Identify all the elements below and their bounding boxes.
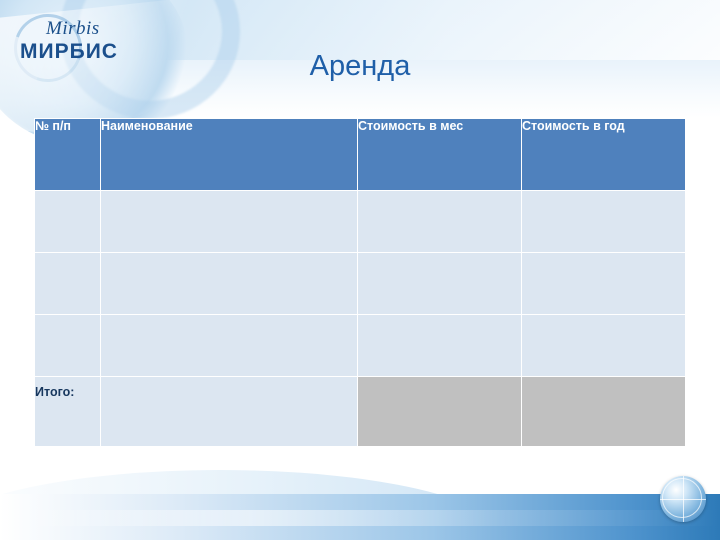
cell-total-price-month [358, 377, 522, 447]
table-header-row: № п/п Наименование Стоимость в мес Стоим… [35, 119, 686, 191]
logo-main-text: МИРБИС [20, 40, 118, 64]
cell-name[interactable] [101, 191, 358, 253]
cell-number[interactable] [35, 315, 101, 377]
column-header-name: Наименование [101, 119, 358, 191]
globe-icon [660, 476, 706, 522]
cell-price-year[interactable] [522, 253, 686, 315]
slide: Mirbis МИРБИС Аренда № п/п Наименование … [0, 0, 720, 540]
table-row [35, 315, 686, 377]
table-header: № п/п Наименование Стоимость в мес Стоим… [35, 119, 686, 191]
table-total-row: Итого: [35, 377, 686, 447]
column-header-price-month: Стоимость в мес [358, 119, 522, 191]
cell-price-year[interactable] [522, 191, 686, 253]
table-row [35, 253, 686, 315]
cell-number[interactable] [35, 253, 101, 315]
column-header-price-year: Стоимость в год [522, 119, 686, 191]
cell-number[interactable] [35, 191, 101, 253]
cell-price-month[interactable] [358, 253, 522, 315]
cell-name[interactable] [101, 253, 358, 315]
table-row [35, 191, 686, 253]
mirbis-logo: Mirbis МИРБИС [12, 12, 132, 76]
cell-price-month[interactable] [358, 315, 522, 377]
table-body: Итого: [35, 191, 686, 447]
cell-price-year[interactable] [522, 315, 686, 377]
cell-total-label: Итого: [35, 377, 101, 447]
cell-price-month[interactable] [358, 191, 522, 253]
column-header-number: № п/п [35, 119, 101, 191]
rent-table-container: № п/п Наименование Стоимость в мес Стоим… [34, 118, 685, 447]
rent-table: № п/п Наименование Стоимость в мес Стоим… [34, 118, 686, 447]
cell-total-name[interactable] [101, 377, 358, 447]
cell-total-price-year [522, 377, 686, 447]
bottom-gradient-highlight [0, 510, 720, 526]
logo-script-text: Mirbis [46, 18, 100, 40]
cell-name[interactable] [101, 315, 358, 377]
